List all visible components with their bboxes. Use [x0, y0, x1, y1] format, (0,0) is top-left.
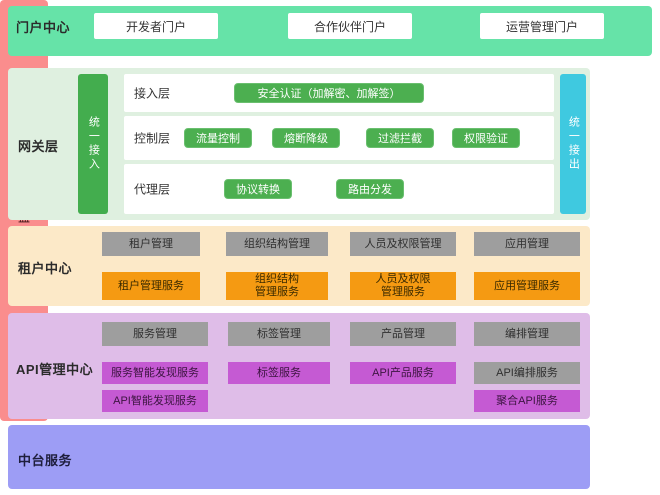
api-module-2[interactable]: 标签管理: [228, 322, 330, 346]
gateway-pill-2-3[interactable]: 过滤拦截: [366, 128, 434, 148]
api-module-4[interactable]: 编排管理: [474, 322, 580, 346]
architecture-diagram: 门户中心 开发者门户合作伙伴门户运营管理门户 网关层 统一接入 统一接出 接入层…: [0, 0, 660, 495]
tenant-module-2[interactable]: 组织结构管理: [226, 232, 328, 256]
gateway-row-label-3: 代理层: [134, 181, 170, 198]
tenant-service-1[interactable]: 租户管理服务: [102, 272, 200, 300]
api-service-1-2[interactable]: API智能发现服务: [102, 390, 208, 412]
unified-egress-label: 统一接出: [567, 116, 580, 172]
tenant-service-2[interactable]: 组织结构 管理服务: [226, 272, 328, 300]
unified-egress-bar: 统一接出: [560, 74, 586, 214]
tenant-service-3[interactable]: 人员及权限 管理服务: [350, 272, 456, 300]
tenant-module-4[interactable]: 应用管理: [474, 232, 580, 256]
tenant-module-3[interactable]: 人员及权限管理: [350, 232, 456, 256]
gateway-layer-label: 网关层: [18, 136, 59, 155]
gateway-row-label-2: 控制层: [134, 130, 170, 147]
api-service-3-1[interactable]: API产品服务: [350, 362, 456, 384]
tenant-module-1[interactable]: 租户管理: [102, 232, 200, 256]
unified-ingress-label: 统一接入: [87, 116, 100, 172]
middle-platform-band: [8, 425, 590, 489]
gateway-pill-1-1[interactable]: 安全认证（加解密、加解签）: [234, 83, 424, 103]
portal-box-1[interactable]: 开发者门户: [94, 13, 218, 39]
gateway-row-1: 接入层安全认证（加解密、加解签）: [124, 74, 554, 112]
gateway-pill-2-4[interactable]: 权限验证: [452, 128, 520, 148]
api-module-3[interactable]: 产品管理: [350, 322, 456, 346]
portal-box-2[interactable]: 合作伙伴门户: [288, 13, 412, 39]
unified-ingress-bar: 统一接入: [78, 74, 108, 214]
gateway-row-3: 代理层协议转换路由分发: [124, 164, 554, 214]
api-center-label: API管理中心: [16, 359, 93, 378]
api-service-2-1[interactable]: 标签服务: [228, 362, 330, 384]
tenant-service-4[interactable]: 应用管理服务: [474, 272, 580, 300]
gateway-pill-2-1[interactable]: 流量控制: [184, 128, 252, 148]
gateway-row-label-1: 接入层: [134, 85, 170, 102]
gateway-row-2: 控制层流量控制熔断降级过滤拦截权限验证: [124, 116, 554, 160]
api-service-4-1[interactable]: API编排服务: [474, 362, 580, 384]
gateway-pill-3-2[interactable]: 路由分发: [336, 179, 404, 199]
api-service-1-1[interactable]: 服务智能发现服务: [102, 362, 208, 384]
portal-center-label: 门户中心: [16, 17, 70, 36]
middle-platform-label: 中台服务: [18, 450, 72, 469]
portal-box-3[interactable]: 运营管理门户: [480, 13, 604, 39]
api-service-4-2[interactable]: 聚合API服务: [474, 390, 580, 412]
tenant-center-label: 租户中心: [18, 258, 72, 277]
api-module-1[interactable]: 服务管理: [102, 322, 208, 346]
gateway-pill-3-1[interactable]: 协议转换: [224, 179, 292, 199]
gateway-pill-2-2[interactable]: 熔断降级: [272, 128, 340, 148]
